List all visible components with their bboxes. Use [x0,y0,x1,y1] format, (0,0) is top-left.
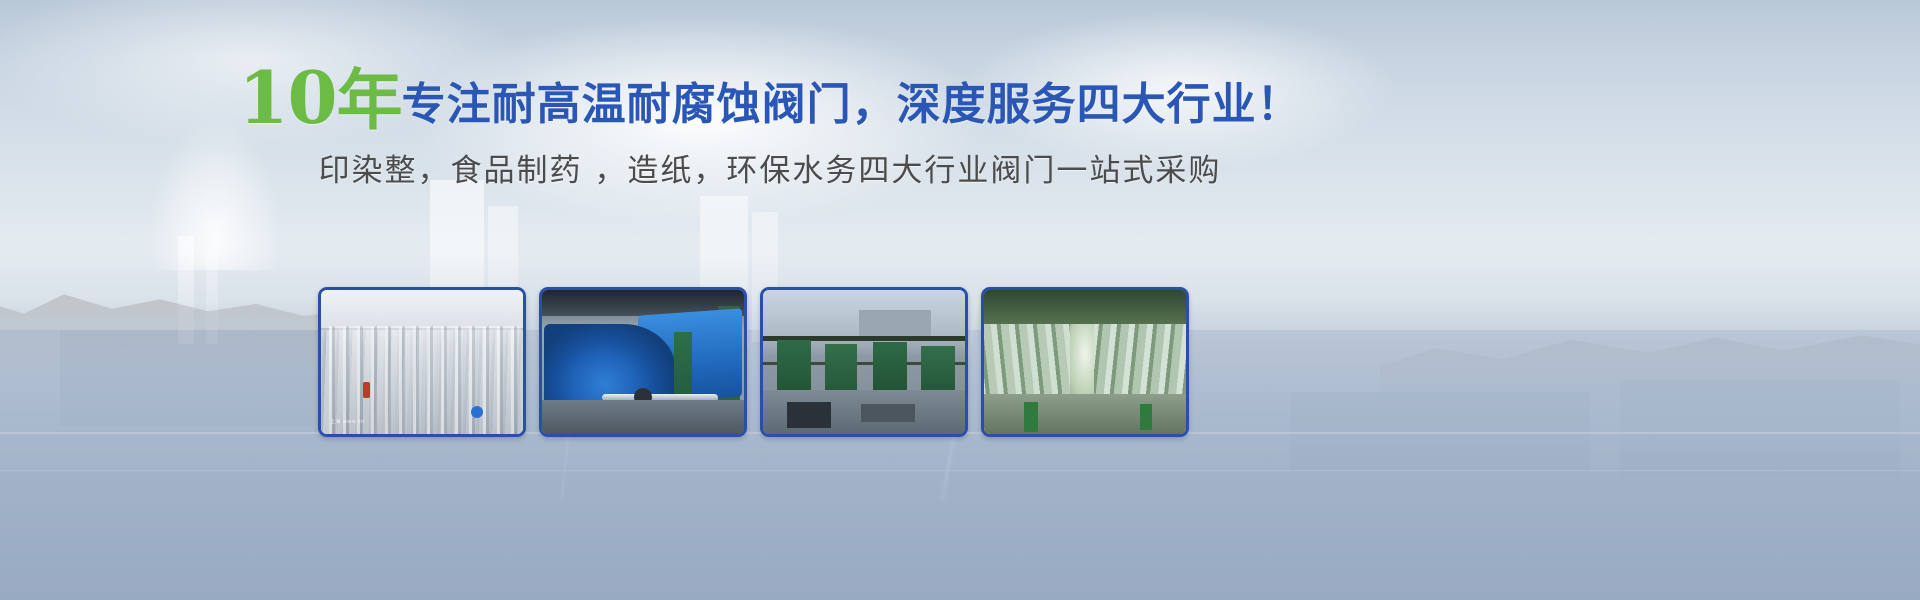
photo-green-unit-left [1024,402,1038,432]
photo-detail-red-valve [363,382,370,398]
photo-floor [542,400,744,434]
industry-photo-card-textile[interactable] [539,287,747,437]
photo-distant-building [859,310,931,336]
photo-machine-corridor [984,290,1186,434]
photo-watermark: 上海 www.cn [330,418,365,425]
industry-photo-card-pharma[interactable]: 上海 www.cn [318,287,526,437]
headline-years: 10年 [238,61,401,139]
industry-photo-card-water[interactable] [981,287,1189,437]
photo-textile-machine [542,290,744,434]
hero-banner: 10年专注耐高温耐腐蚀阀门，深度服务四大行业！ 印染整，食品制药 ，造纸，环保水… [0,0,1920,600]
banner-subheadline: 印染整，食品制药 ，造纸，环保水务四大行业阀门一站式采购 [0,145,1540,190]
industry-photo-gallery: 上海 www.cn [318,287,1189,437]
banner-headline: 10年专注耐高温耐腐蚀阀门，深度服务四大行业！ [0,62,1540,134]
photo-pharma-skid [321,290,523,434]
photo-crate-1 [787,402,831,428]
photo-corridor-floor [984,394,1186,434]
photo-paper-mill-hall [763,290,965,434]
photo-corridor-ceiling [984,290,1186,324]
photo-green-unit-right [1140,404,1152,430]
industry-photo-card-paper[interactable] [760,287,968,437]
headline-years-unit: 年 [337,61,402,139]
photo-detail-blue-valve [471,406,483,418]
headline-years-number: 10 [238,55,336,140]
headline-main-text: 专注耐高温耐腐蚀阀门，深度服务四大行业！ [402,79,1302,130]
photo-crate-2 [861,404,915,422]
